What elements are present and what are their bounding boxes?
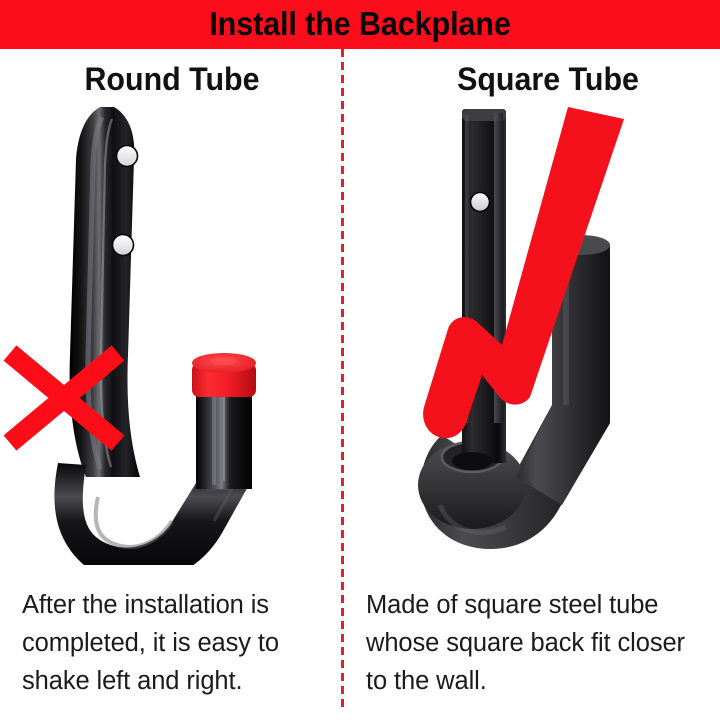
column-heading-square-tube: Square Tube — [387, 60, 710, 98]
caption-round-tube: After the installation is completed, it … — [22, 586, 327, 700]
mounting-hole-lower — [113, 235, 134, 256]
instruction-graphic: Install the Backplane Round Tube Square … — [0, 0, 720, 720]
illustration-square-tube — [380, 105, 720, 565]
red-end-cap — [192, 353, 256, 397]
page-title: Install the Backplane — [209, 7, 510, 43]
mounting-hole-upper — [117, 146, 138, 167]
column-heading-round-tube: Round Tube — [11, 60, 334, 98]
header-banner: Install the Backplane — [0, 0, 720, 49]
illustration-round-tube — [0, 105, 340, 565]
mounting-hole-upper — [471, 193, 490, 212]
vertical-dashed-divider — [341, 49, 344, 707]
caption-square-tube: Made of square steel tube whose square b… — [366, 586, 696, 700]
